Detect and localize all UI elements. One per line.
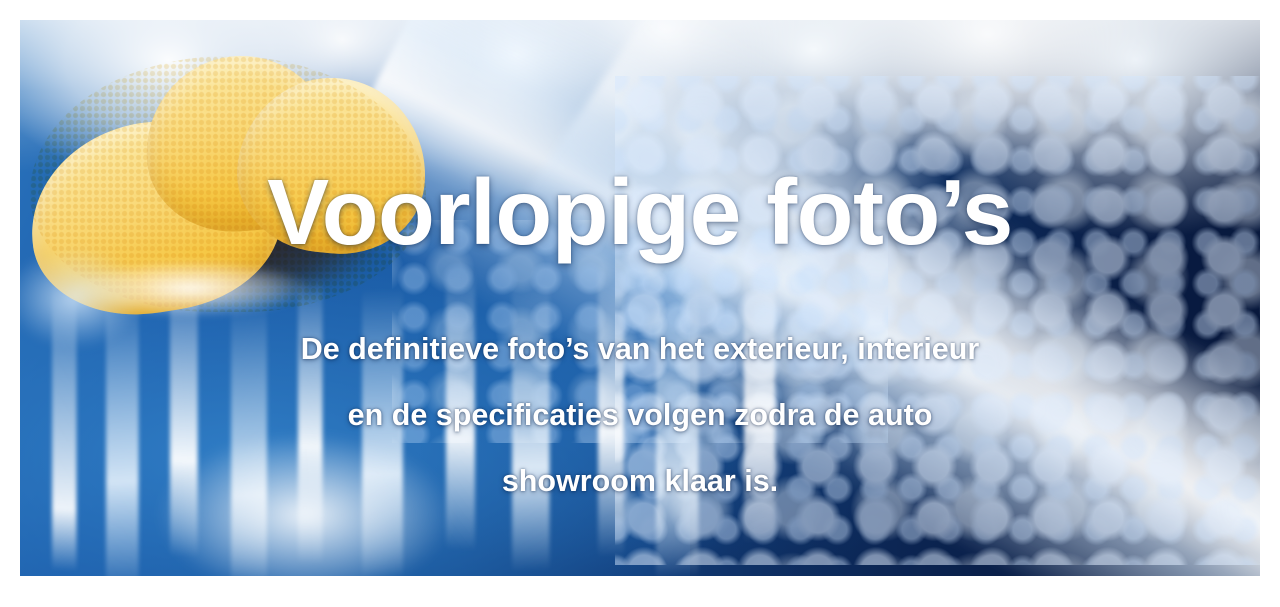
page-title: Voorlopige foto’s <box>20 166 1260 259</box>
subtitle-line-2: en de specificaties volgen zodra de auto <box>190 382 1090 448</box>
slide-canvas: Voorlopige foto’s De definitieve foto’s … <box>0 0 1280 607</box>
voorlopige-fotos-placeholder-banner: Voorlopige foto’s De definitieve foto’s … <box>20 20 1260 576</box>
subtitle-line-1: De definitieve foto’s van het exterieur,… <box>190 316 1090 382</box>
text-overlay: Voorlopige foto’s De definitieve foto’s … <box>20 20 1260 576</box>
subtitle-line-3: showroom klaar is. <box>190 448 1090 514</box>
page-subtitle: De definitieve foto’s van het exterieur,… <box>190 316 1090 514</box>
